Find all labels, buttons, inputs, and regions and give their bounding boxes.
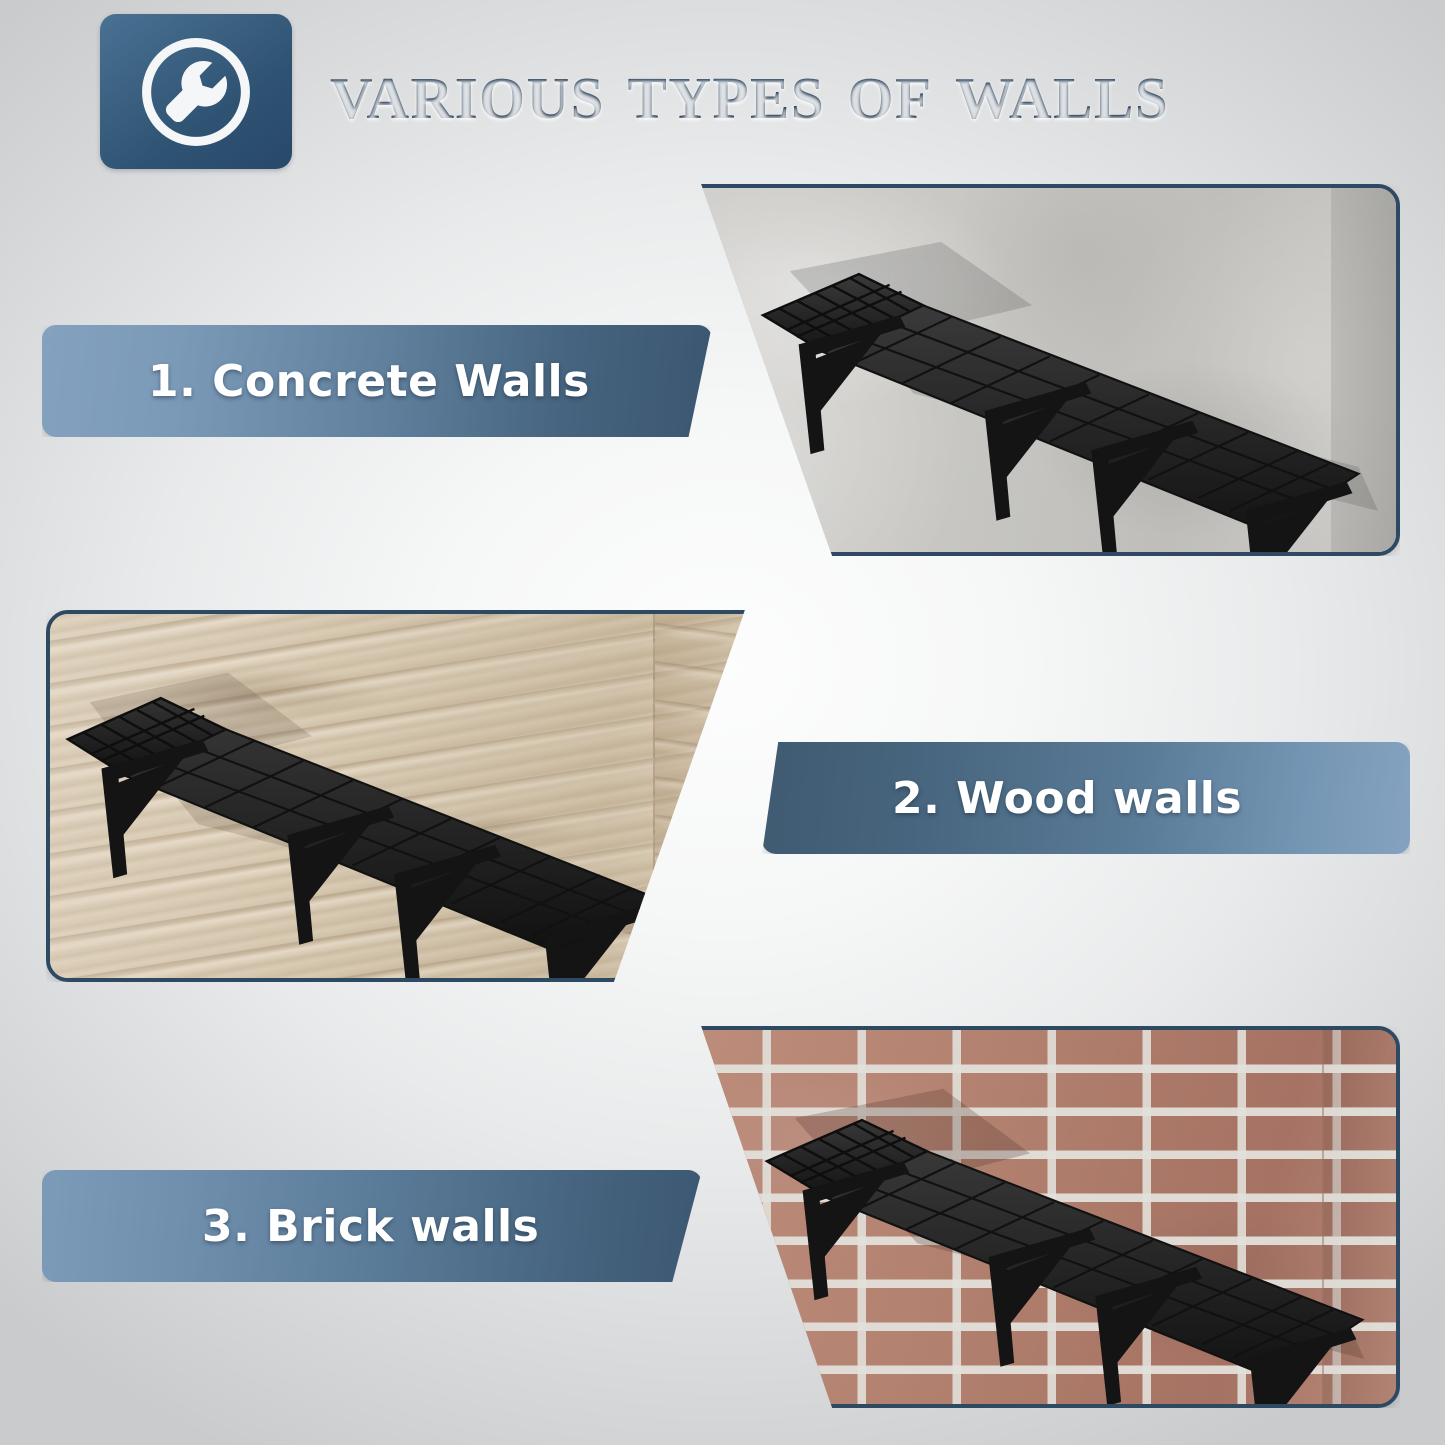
wire-shelf-illustration [50, 614, 770, 978]
page-title: Various Types of Walls [330, 36, 1400, 146]
section-label-brick[interactable]: 3. Brick walls [42, 1170, 702, 1282]
photo-panel-wood [46, 610, 774, 982]
section-label-text: 1. Concrete Walls [148, 356, 590, 407]
section-label-text: 2. Wood walls [892, 773, 1242, 824]
wire-shelf-illustration [676, 1030, 1396, 1404]
section-label-concrete[interactable]: 1. Concrete Walls [42, 325, 712, 437]
logo-badge [100, 14, 292, 169]
section-label-text: 3. Brick walls [202, 1201, 539, 1252]
photo-panel-brick [672, 1026, 1400, 1408]
wrench-in-circle-icon [131, 27, 261, 157]
photo-panel-concrete [672, 184, 1400, 556]
header: Various Types of Walls [0, 0, 1445, 180]
section-label-wood[interactable]: 2. Wood walls [762, 742, 1410, 854]
wire-shelf-illustration [676, 188, 1396, 552]
infographic-canvas: Various Types of Walls [0, 0, 1445, 1445]
